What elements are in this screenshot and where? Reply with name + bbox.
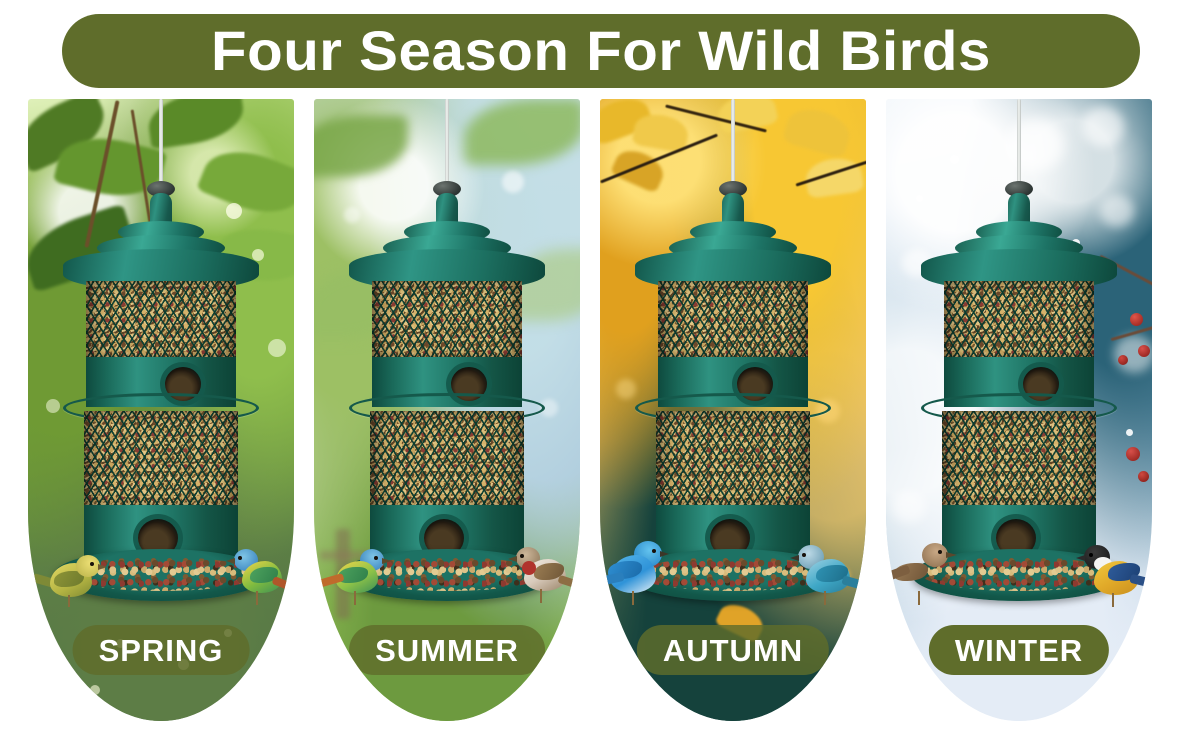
bird-eye bbox=[520, 554, 524, 558]
bird-eye bbox=[1089, 553, 1093, 557]
season-label-text: SPRING bbox=[99, 635, 224, 666]
bird-leg bbox=[68, 595, 70, 607]
bird-painted-bunting bbox=[320, 545, 396, 611]
bird-beak bbox=[946, 552, 957, 558]
title-banner: Four Season For Wild Birds bbox=[62, 14, 1140, 88]
seed-mesh-upper bbox=[86, 281, 236, 359]
seed-mesh-lower bbox=[942, 411, 1096, 507]
season-panel-autumn[interactable]: AUTUMN bbox=[600, 99, 866, 721]
bird-eastern-bluebird bbox=[602, 539, 682, 611]
bird-beak bbox=[790, 555, 799, 561]
bird-leg bbox=[918, 591, 920, 605]
bird-beak bbox=[660, 551, 669, 557]
bird-eye bbox=[802, 553, 806, 557]
bird-leg bbox=[1112, 593, 1114, 607]
hanging-wire bbox=[731, 99, 735, 187]
bird-beak bbox=[508, 556, 517, 562]
bird-leg bbox=[540, 589, 542, 603]
season-label-summer[interactable]: SUMMER bbox=[349, 625, 545, 675]
seed-mesh-upper bbox=[658, 281, 808, 359]
bird-eye bbox=[374, 556, 378, 560]
bird-eye bbox=[652, 549, 656, 553]
bird-tail bbox=[841, 575, 866, 591]
bird-beak bbox=[382, 558, 391, 564]
seed-mesh-upper bbox=[944, 281, 1094, 359]
bird-chickadee bbox=[1080, 543, 1152, 613]
bird-throat-patch bbox=[522, 561, 536, 575]
hanging-wire bbox=[159, 99, 163, 187]
season-panel-summer[interactable]: SUMMER bbox=[314, 99, 580, 721]
bird-yellow-warbler bbox=[36, 547, 108, 609]
bird-leg bbox=[824, 591, 826, 605]
bird-beak bbox=[1076, 555, 1085, 561]
bird-eye bbox=[90, 562, 94, 566]
bird-beak bbox=[226, 558, 235, 564]
bird-red-throated-finch bbox=[510, 541, 580, 609]
season-label-text: WINTER bbox=[955, 635, 1083, 666]
hanging-wire bbox=[1017, 99, 1021, 187]
season-panel-winter[interactable]: WINTER bbox=[886, 99, 1152, 721]
season-label-spring[interactable]: SPRING bbox=[73, 625, 250, 675]
bird-blue-tanager bbox=[794, 541, 866, 611]
seed-mesh-lower bbox=[656, 411, 810, 507]
season-label-autumn[interactable]: AUTUMN bbox=[637, 625, 829, 675]
page-title: Four Season For Wild Birds bbox=[211, 23, 991, 79]
season-label-text: SUMMER bbox=[375, 635, 519, 666]
seed-mesh-lower bbox=[84, 411, 238, 507]
hanging-wire bbox=[445, 99, 449, 187]
bird-eye bbox=[238, 556, 242, 560]
season-label-text: AUTUMN bbox=[663, 635, 803, 666]
bird-beak bbox=[98, 564, 107, 570]
bird-tail bbox=[272, 576, 294, 594]
bird-eye bbox=[938, 550, 942, 554]
season-panel-row: SPRING bbox=[0, 99, 1200, 724]
bird-leg bbox=[256, 591, 258, 605]
bokeh-dot bbox=[90, 685, 100, 695]
seed-mesh-lower bbox=[370, 411, 524, 507]
bird-head bbox=[76, 555, 100, 577]
season-panel-spring[interactable]: SPRING bbox=[28, 99, 294, 721]
bird-leg bbox=[354, 591, 356, 605]
bird-brown-wren bbox=[890, 541, 968, 611]
bird-painted-bunting bbox=[224, 545, 294, 613]
season-label-winter[interactable]: WINTER bbox=[929, 625, 1109, 675]
bird-tail bbox=[557, 575, 580, 591]
seed-mesh-upper bbox=[372, 281, 522, 359]
bird-leg bbox=[632, 591, 634, 605]
